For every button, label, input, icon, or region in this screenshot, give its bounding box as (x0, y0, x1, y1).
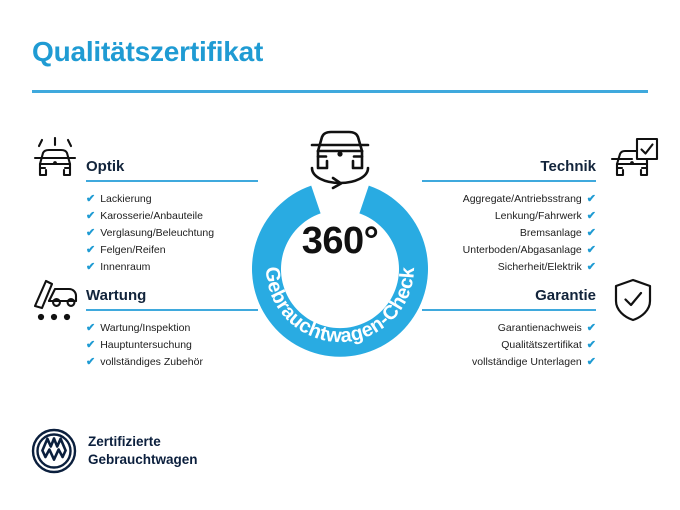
list-item: ✔Karosserie/Anbauteile (86, 208, 258, 225)
check-icon: ✔ (587, 339, 596, 351)
check-icon: ✔ (86, 244, 95, 256)
list-item-label: Karosserie/Anbauteile (100, 210, 203, 222)
list-item: Bremsanlage✔ (422, 225, 596, 242)
list-item: Aggregate/Antriebsstrang✔ (422, 191, 596, 208)
check-icon: ✔ (587, 261, 596, 273)
list-item: Qualitätszertifikat✔ (422, 337, 596, 354)
check-icon: ✔ (587, 244, 596, 256)
check-icon: ✔ (86, 339, 95, 351)
section-header: Wartung (86, 281, 258, 311)
car-front-checkbox-icon (606, 137, 660, 183)
check-icon: ✔ (86, 261, 95, 273)
footer-line-1: Zertifizierte (88, 433, 198, 451)
shield-check-icon (606, 277, 660, 323)
list-item-label: Felgen/Reifen (100, 244, 165, 256)
list-item: ✔Innenraum (86, 259, 258, 276)
footer-text: Zertifizierte Gebrauchtwagen (88, 433, 198, 469)
check-icon: ✔ (86, 322, 95, 334)
section-divider (86, 180, 258, 182)
list-item: Lenkung/Fahrwerk✔ (422, 208, 596, 225)
section-optik: Optik ✔Lackierung ✔Karosserie/Anbauteile… (86, 152, 258, 276)
list-item: ✔Lackierung (86, 191, 258, 208)
section-header: Technik (422, 152, 596, 182)
list-item: ✔Felgen/Reifen (86, 242, 258, 259)
badge-number: 360° (240, 220, 440, 263)
section-title: Wartung (86, 287, 146, 304)
list-item-label: Wartung/Inspektion (100, 322, 190, 334)
list-item-label: Lenkung/Fahrwerk (495, 210, 582, 222)
section-title: Technik (540, 158, 596, 175)
section-header: Optik (86, 152, 258, 182)
list-item: vollständige Unterlagen✔ (422, 354, 596, 371)
list-item-label: Lackierung (100, 193, 151, 205)
list-item: Unterboden/Abgasanlage✔ (422, 242, 596, 259)
check-list: Aggregate/Antriebsstrang✔ Lenkung/Fahrwe… (422, 191, 596, 276)
check-list: ✔Lackierung ✔Karosserie/Anbauteile ✔Verg… (86, 191, 258, 276)
check-icon: ✔ (86, 227, 95, 239)
badge-360-gebrauchtwagen-check: Gebrauchtwagen-Check 360° (240, 168, 440, 368)
check-icon: ✔ (587, 356, 596, 368)
list-item: ✔Hauptuntersuchung (86, 337, 258, 354)
list-item: ✔vollständiges Zubehör (86, 354, 258, 371)
check-list: Garantienachweis✔ Qualitätszertifikat✔ v… (422, 320, 596, 371)
footer-line-2: Gebrauchtwagen (88, 451, 198, 469)
list-item-label: Unterboden/Abgasanlage (463, 244, 582, 256)
title-divider (32, 90, 648, 93)
list-item-label: vollständiges Zubehör (100, 356, 203, 368)
list-item-label: vollständige Unterlagen (472, 356, 582, 368)
list-item-label: Innenraum (100, 261, 150, 273)
list-item-label: Garantienachweis (498, 322, 582, 334)
list-item-label: Qualitätszertifikat (501, 339, 582, 351)
list-item-label: Verglasung/Beleuchtung (100, 227, 214, 239)
section-wartung: Wartung ✔Wartung/Inspektion ✔Hauptunters… (86, 281, 258, 371)
list-item: Garantienachweis✔ (422, 320, 596, 337)
section-garantie: Garantie Garantienachweis✔ Qualitätszert… (422, 281, 596, 371)
section-title: Optik (86, 158, 124, 175)
car-on-lift-icon (28, 277, 82, 323)
volkswagen-logo (31, 428, 77, 474)
check-icon: ✔ (587, 227, 596, 239)
section-divider (422, 309, 596, 311)
section-technik: Technik Aggregate/Antriebsstrang✔ Lenkun… (422, 152, 596, 276)
car-rotate-360-icon (298, 124, 382, 192)
check-icon: ✔ (587, 210, 596, 222)
check-icon: ✔ (86, 210, 95, 222)
section-title: Garantie (535, 287, 596, 304)
check-icon: ✔ (587, 193, 596, 205)
section-header: Garantie (422, 281, 596, 311)
car-front-headlights-icon (28, 137, 82, 183)
section-divider (422, 180, 596, 182)
check-list: ✔Wartung/Inspektion ✔Hauptuntersuchung ✔… (86, 320, 258, 371)
check-icon: ✔ (86, 356, 95, 368)
check-icon: ✔ (86, 193, 95, 205)
list-item-label: Aggregate/Antriebsstrang (463, 193, 582, 205)
list-item-label: Sicherheit/Elektrik (498, 261, 582, 273)
list-item: ✔Verglasung/Beleuchtung (86, 225, 258, 242)
badge-ring: Gebrauchtwagen-Check (240, 168, 440, 368)
section-divider (86, 309, 258, 311)
list-item-label: Bremsanlage (520, 227, 582, 239)
list-item-label: Hauptuntersuchung (100, 339, 192, 351)
check-icon: ✔ (587, 322, 596, 334)
page-title: Qualitätszertifikat (32, 36, 263, 68)
list-item: Sicherheit/Elektrik✔ (422, 259, 596, 276)
list-item: ✔Wartung/Inspektion (86, 320, 258, 337)
